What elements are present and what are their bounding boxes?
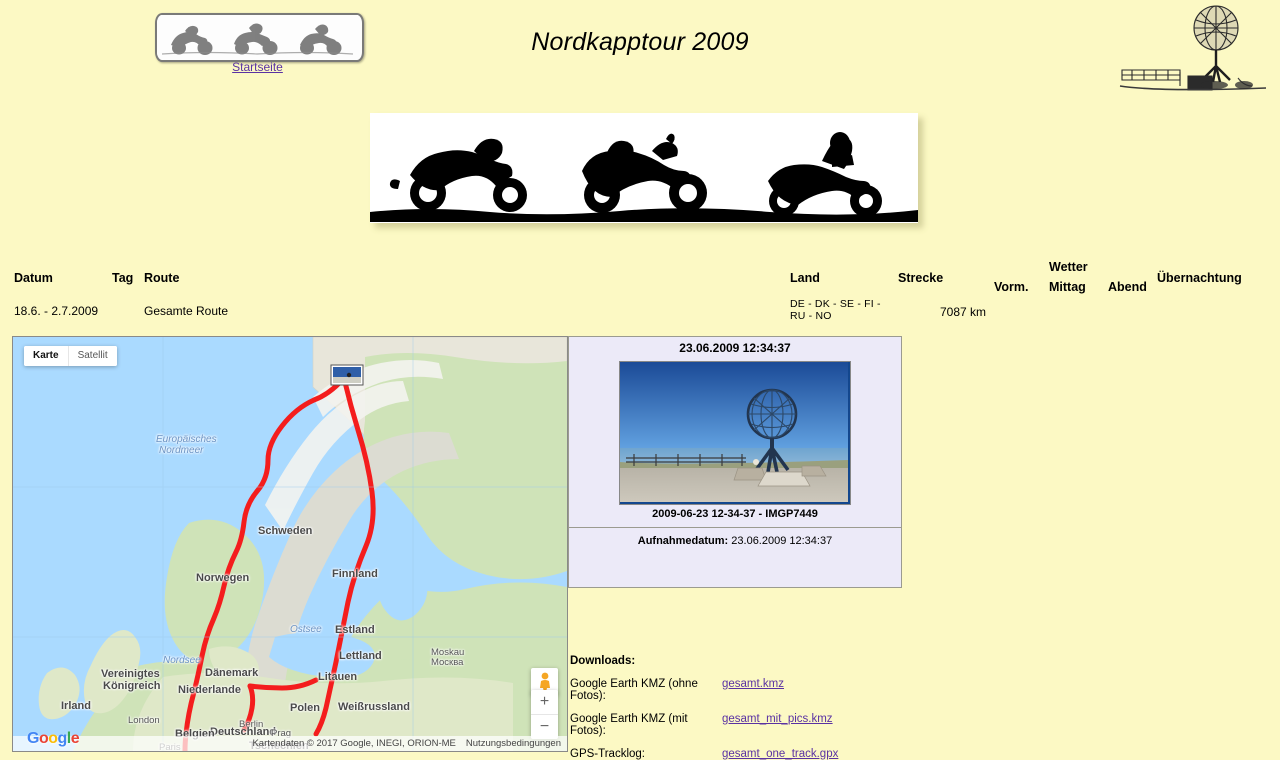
photo-exif-line: Aufnahmedatum: 23.06.2009 12:34:37: [569, 528, 901, 547]
three-motorcycles-silhouette-banner-icon: [370, 113, 918, 223]
motorcycles-banner: [370, 113, 918, 223]
map-photo-marker: [331, 365, 363, 385]
startseite-link[interactable]: Startseite: [155, 60, 360, 74]
downloads-rows: Google Earth KMZ (ohne Fotos):gesamt.kmz…: [568, 678, 988, 760]
map-label-europ-isches: Europäisches: [156, 434, 217, 445]
page-title: Nordkapptour 2009: [0, 28, 1280, 57]
map-attribution-text: Kartendaten © 2017 Google, INEGI, ORION-…: [252, 738, 455, 749]
download-row: Google Earth KMZ (ohne Fotos):gesamt.kmz: [568, 678, 988, 702]
map-label-litauen: Litauen: [318, 671, 357, 683]
table-header-vormittag: Vorm.: [994, 280, 1029, 294]
map-label--: Москва: [431, 657, 463, 668]
table-cell-route: Gesamte Route: [144, 304, 228, 318]
table-cell-strecke: 7087 km: [940, 305, 986, 319]
table-header-land: Land: [790, 271, 820, 285]
download-link[interactable]: gesamt_mit_pics.kmz: [722, 713, 833, 737]
google-logo: Google: [27, 730, 79, 748]
zoom-in-button[interactable]: +: [531, 690, 558, 715]
map-label-vereinigtes: Vereinigtes: [101, 668, 160, 680]
map-canvas-icon: [13, 337, 567, 751]
map-label-polen: Polen: [290, 702, 320, 714]
page-header: Startseite Nordkapptour 2009: [0, 0, 1280, 105]
route-summary-table: Datum Tag Route Land Strecke Wetter Vorm…: [0, 260, 1280, 325]
table-header-wetter: Wetter: [1049, 260, 1088, 274]
downloads-section: Downloads: Google Earth KMZ (ohne Fotos)…: [568, 655, 988, 760]
download-label: Google Earth KMZ (mit Fotos):: [570, 713, 722, 737]
map-attribution-bar: Kartendaten © 2017 Google, INEGI, ORION-…: [13, 736, 567, 751]
pegman-glyph-icon: [537, 672, 553, 692]
map-type-karte[interactable]: Karte: [24, 346, 68, 366]
map-label-ostsee: Ostsee: [290, 624, 322, 635]
nordkapp-globe-drawing-icon: [1118, 0, 1268, 100]
download-link[interactable]: gesamt.kmz: [722, 678, 784, 702]
map-label-nordsee: Nordsee: [163, 655, 201, 666]
table-header-uebernachtung: Übernachtung: [1157, 271, 1242, 285]
map-label-london: London: [128, 715, 160, 726]
map-label-estland: Estland: [335, 624, 375, 636]
table-header-strecke: Strecke: [898, 271, 943, 285]
map-label-k-nigreich: Königreich: [103, 680, 160, 692]
map-zoom-control[interactable]: + −: [531, 690, 558, 739]
map-label-niederlande: Niederlande: [178, 684, 241, 696]
table-header-abend: Abend: [1108, 280, 1147, 294]
download-row: Google Earth KMZ (mit Fotos):gesamt_mit_…: [568, 713, 988, 737]
route-map[interactable]: EuropäischesNordmeerSchwedenNorwegenFinn…: [12, 336, 568, 752]
table-header-tag: Tag: [112, 271, 133, 285]
map-type-satellit[interactable]: Satellit: [68, 346, 117, 366]
map-label-wei-russland: Weißrussland: [338, 701, 410, 713]
photo-exif-label: Aufnahmedatum:: [638, 535, 728, 547]
download-link[interactable]: gesamt_one_track.gpx: [722, 748, 838, 760]
table-cell-land: DE - DK - SE - FI - RU - NO: [790, 298, 890, 322]
map-label-nordmeer: Nordmeer: [159, 445, 203, 456]
photo-thumbnail[interactable]: [619, 361, 851, 505]
table-cell-datum: 18.6. - 2.7.2009: [14, 304, 98, 318]
photo-exif-value: 23.06.2009 12:34:37: [731, 535, 832, 547]
download-row: GPS-Tracklog:gesamt_one_track.gpx: [568, 748, 988, 760]
download-label: Google Earth KMZ (ohne Fotos):: [570, 678, 722, 702]
map-type-control[interactable]: Karte Satellit: [24, 346, 117, 366]
table-header-datum: Datum: [14, 271, 53, 285]
map-label-schweden: Schweden: [258, 525, 312, 537]
table-header-route: Route: [144, 271, 179, 285]
map-label-lettland: Lettland: [339, 650, 382, 662]
photo-timestamp: 23.06.2009 12:34:37: [569, 337, 901, 355]
map-label-norwegen: Norwegen: [196, 572, 249, 584]
map-label-irland: Irland: [61, 700, 91, 712]
table-header-mittag: Mittag: [1049, 280, 1086, 294]
map-terms-link[interactable]: Nutzungsbedingungen: [466, 738, 561, 749]
map-label-d-nemark: Dänemark: [205, 667, 258, 679]
photo-panel: 23.06.2009 12:34:37: [568, 336, 902, 588]
photo-caption: 2009-06-23 12-34-37 - IMGP7449: [569, 505, 901, 520]
downloads-title: Downloads:: [568, 655, 988, 667]
download-label: GPS-Tracklog:: [570, 748, 722, 760]
nordkapp-globe-photo-icon: [620, 362, 848, 502]
map-label-finnland: Finnland: [332, 568, 378, 580]
